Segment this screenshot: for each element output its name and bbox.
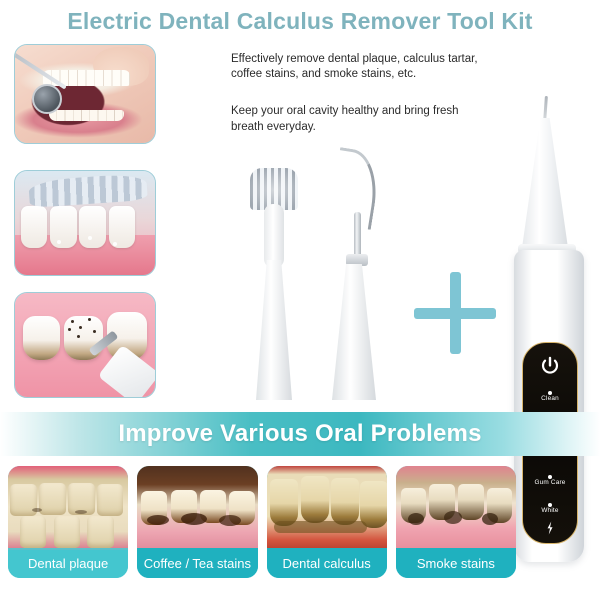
description-block: Effectively remove dental plaque, calcul…	[231, 52, 483, 135]
card-photo-smoke-stains	[396, 466, 516, 550]
mode-clean[interactable]: Clean	[523, 391, 577, 402]
improve-problems-banner: Improve Various Oral Problems	[0, 412, 600, 456]
description-paragraph-2: Keep your oral cavity healthy and bring …	[231, 104, 483, 134]
problem-card-coffee-tea-stains: Coffee / Tea stains	[137, 466, 257, 578]
card-label: Coffee / Tea stains	[144, 556, 251, 571]
card-caption: Coffee / Tea stains	[137, 548, 257, 578]
product-marketing-image: Electric Dental Calculus Remover Tool Ki…	[0, 0, 600, 600]
problem-cards-row: Dental plaque Coffee / Tea stains	[8, 466, 516, 578]
molar	[23, 316, 59, 360]
problem-card-dental-plaque: Dental plaque	[8, 466, 128, 578]
brush-head-attachment	[244, 168, 306, 400]
photo-tartar-closeup	[15, 171, 155, 275]
tooth	[21, 206, 48, 248]
card-caption: Smoke stains	[396, 548, 516, 578]
power-icon[interactable]	[539, 355, 561, 377]
photo-molar-calculus	[15, 293, 155, 397]
tooth	[50, 206, 77, 248]
brush-neck	[264, 204, 284, 268]
description-paragraph-1: Effectively remove dental plaque, calcul…	[231, 52, 483, 82]
mode-label: White	[523, 508, 577, 514]
mode-label: Clean	[523, 396, 577, 402]
tooth	[79, 206, 106, 248]
mode-gum-care[interactable]: Gum Care	[523, 475, 577, 486]
vibration-icon[interactable]	[544, 521, 556, 535]
thumbnail-tartar-buildup-brush-closeup	[14, 170, 156, 276]
mode-label: Gum Care	[523, 480, 577, 486]
card-label: Dental plaque	[28, 556, 108, 571]
scaler-rod	[354, 212, 361, 260]
scaler-stem	[332, 264, 376, 400]
card-photo-dental-calculus	[267, 466, 387, 550]
brush-bristles	[28, 173, 147, 208]
scaler-handle	[97, 345, 155, 397]
lower-teeth	[49, 110, 125, 122]
card-label: Dental calculus	[283, 556, 371, 571]
problem-card-dental-calculus: Dental calculus	[267, 466, 387, 578]
plus-icon	[414, 272, 496, 354]
problem-card-smoke-stains: Smoke stains	[396, 466, 516, 578]
scaler-tip-attachment	[320, 150, 390, 400]
card-label: Smoke stains	[417, 556, 495, 571]
device-cone	[522, 118, 568, 248]
thumbnail-molar-calculus-scaler-closeup	[14, 292, 156, 398]
card-caption: Dental calculus	[267, 548, 387, 578]
photo-open-mouth	[15, 45, 155, 143]
mode-white[interactable]: White	[523, 503, 577, 514]
thumbnail-open-mouth-dental-mirror-exam	[14, 44, 156, 144]
banner-text: Improve Various Oral Problems	[118, 420, 481, 448]
brush-stem	[256, 260, 292, 400]
card-photo-dental-plaque	[8, 466, 128, 550]
card-photo-coffee-tea-stains	[137, 466, 257, 550]
dental-mirror	[32, 84, 62, 114]
page-title: Electric Dental Calculus Remover Tool Ki…	[0, 8, 600, 35]
card-caption: Dental plaque	[8, 548, 128, 578]
